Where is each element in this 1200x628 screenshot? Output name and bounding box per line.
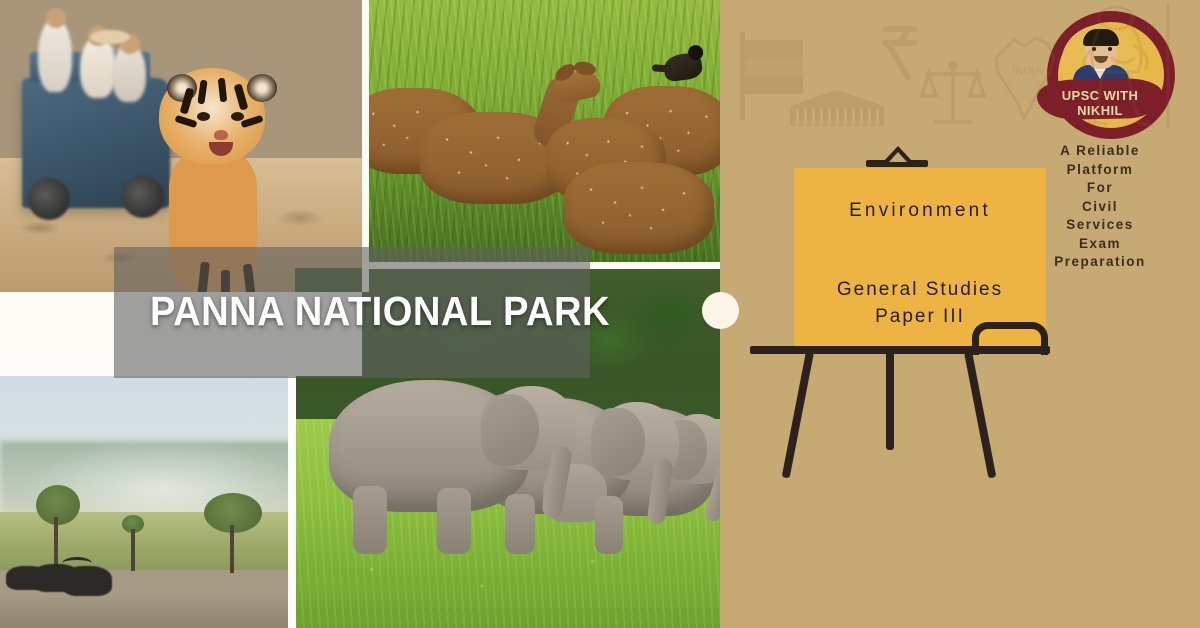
tiger-eye — [231, 112, 244, 121]
tiger-ear — [167, 74, 197, 102]
page-title: PANNA NATIONAL PARK — [150, 287, 541, 335]
buffalo-horn — [62, 557, 92, 570]
divider-circle — [702, 292, 739, 329]
jeep-wheel — [28, 178, 70, 220]
tiger-mouth — [209, 142, 233, 156]
landscape-photo — [0, 375, 296, 628]
easel-board: Environment General Studies Paper III — [794, 168, 1046, 348]
elephant-leg — [595, 496, 623, 554]
easel-clip-triangle-inner — [889, 152, 907, 162]
photo-collage: PANNA NATIONAL PARK — [0, 0, 720, 628]
elephant-leg — [353, 486, 387, 554]
scales-of-justice-icon — [920, 60, 986, 130]
easel-leg — [886, 352, 894, 450]
tree — [204, 493, 262, 573]
india-map-label: INDIA — [1012, 65, 1042, 77]
photo-seam — [288, 375, 296, 628]
easel-leg — [782, 351, 814, 478]
tiger-eye — [197, 112, 210, 121]
elephant-leg — [505, 494, 535, 554]
easel-leg — [964, 351, 996, 478]
india-map-icon: INDIA — [990, 32, 1064, 124]
easel-illustration: Environment General Studies Paper III — [750, 140, 1050, 470]
elephant-leg — [437, 488, 471, 554]
tiger-nose — [214, 130, 228, 140]
board-subject: Environment — [794, 200, 1046, 222]
parliament-building-icon — [784, 90, 890, 130]
board-paper-line1: General Studies — [794, 276, 1046, 303]
tourist-figure — [38, 18, 72, 92]
tree — [122, 515, 144, 571]
tourist-hat — [90, 30, 130, 44]
tourist-head — [46, 8, 66, 28]
tiger-head — [159, 68, 265, 164]
tiger-ear — [247, 74, 277, 102]
easel-tray — [750, 346, 1050, 354]
gandhi-walking-icon — [1072, 2, 1182, 130]
rupee-symbol-icon — [880, 22, 920, 84]
buffalo — [62, 566, 112, 596]
deer-figure — [564, 162, 714, 254]
poster-canvas: PANNA NATIONAL PARK UPSC WITH NIKHIL — [0, 0, 1200, 628]
info-panel: UPSC WITH NIKHIL A Reliable Platform For… — [720, 0, 1200, 628]
spotted-deer-photo — [368, 0, 720, 262]
